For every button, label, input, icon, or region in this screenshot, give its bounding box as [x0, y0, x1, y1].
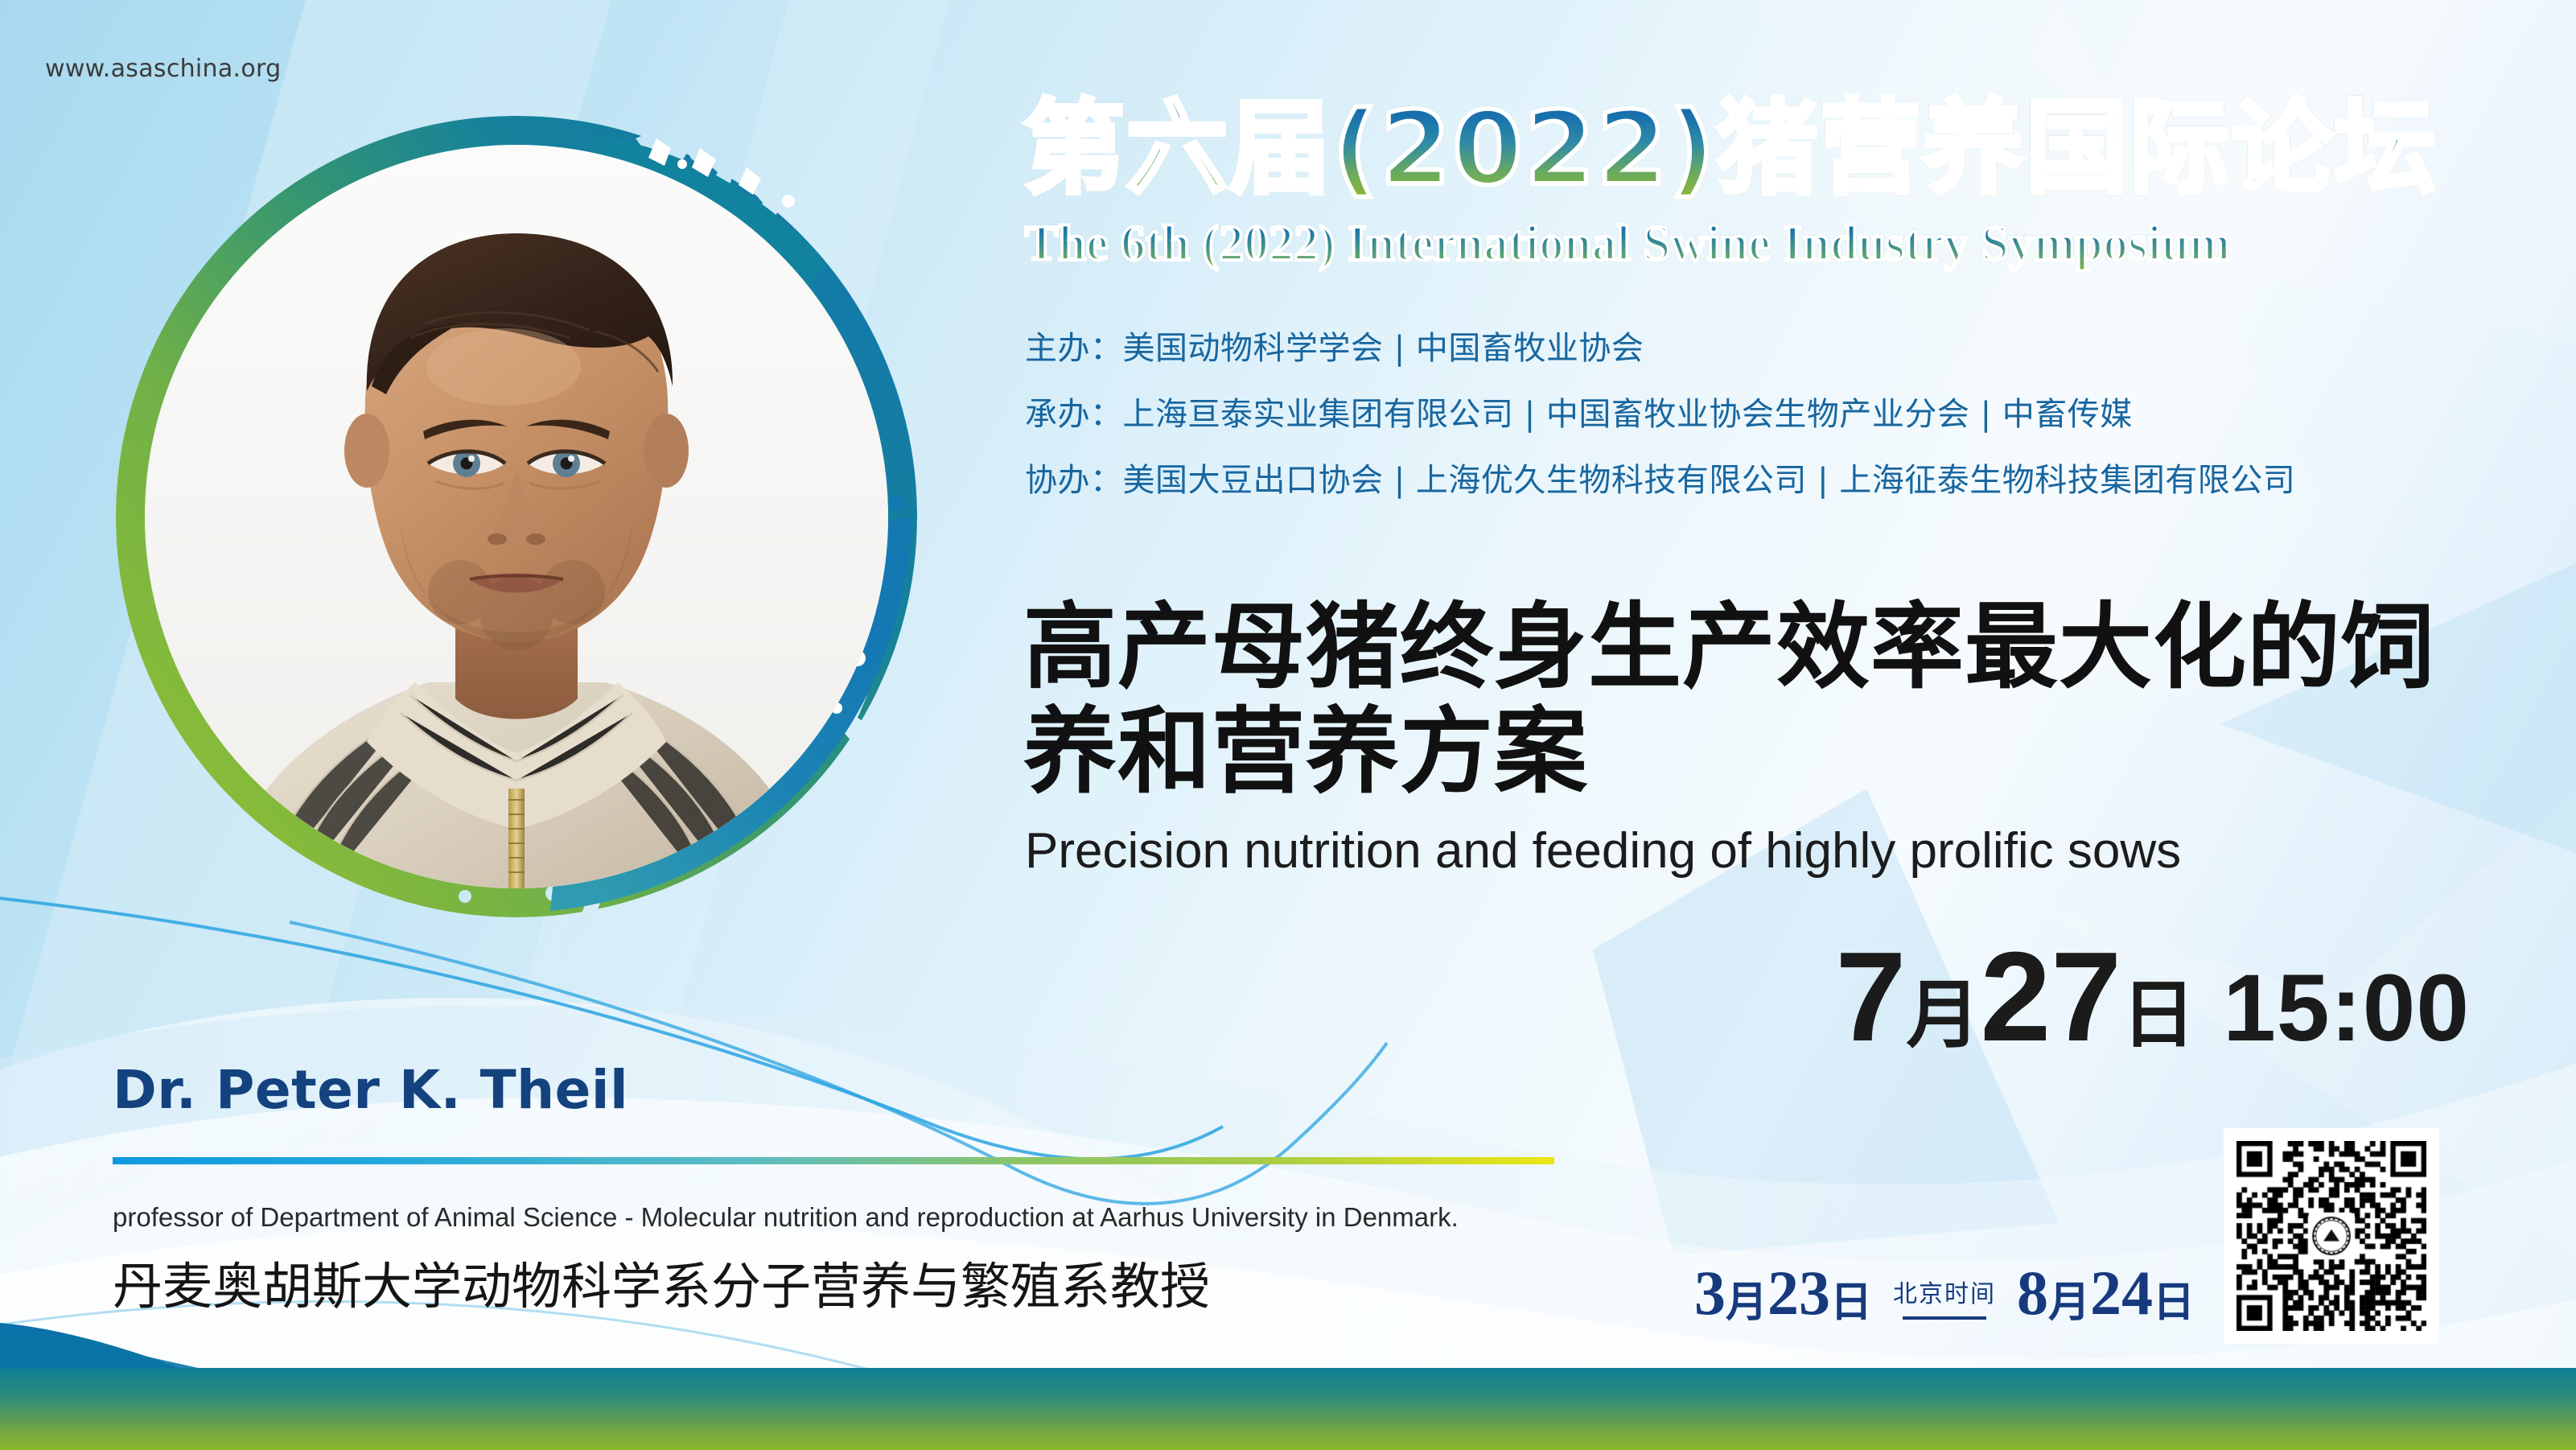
speaker-name: Dr. Peter K. Theil — [113, 1059, 628, 1121]
range-end-month-unit: 月 — [2048, 1283, 2090, 1323]
organizer-line-host: 主办：美国动物科学学会 | 中国畜牧业协会 — [1025, 322, 1644, 369]
timezone-rule — [1903, 1316, 1986, 1320]
event-title-en: The 6th (2022) International Swine Indus… — [1025, 216, 2231, 273]
timezone-note: 北京时间 — [1893, 1274, 1996, 1320]
range-end-day-unit: 日 — [2153, 1283, 2195, 1323]
session-day-number: 27 — [1980, 933, 2121, 1061]
range-start-month-unit: 月 — [1726, 1283, 1767, 1323]
session-datetime: 7 月 27 日 15:00 — [1836, 933, 2470, 1061]
session-month-unit: 月 — [1906, 978, 1980, 1052]
speaker-affiliation-cn: 丹麦奥胡斯大学动物科学系分子营养与繁殖系教授 — [113, 1246, 1210, 1318]
session-time: 15:00 — [2223, 961, 2470, 1056]
speaker-affiliation-en: professor of Department of Animal Scienc… — [113, 1202, 1459, 1233]
range-end-month: 8 — [2017, 1263, 2048, 1323]
qr-code-card[interactable] — [2224, 1128, 2439, 1344]
range-start-month: 3 — [1694, 1263, 1726, 1323]
organizer-line-undertaker: 承办：上海亘泰实业集团有限公司 | 中国畜牧业协会生物产业分会 | 中畜传媒 — [1025, 388, 2133, 435]
site-url: www.asaschina.org — [45, 55, 282, 83]
topic-title-en: Precision nutrition and feeding of highl… — [1025, 822, 2181, 879]
session-month-number: 7 — [1836, 933, 1907, 1061]
qr-code-icon[interactable] — [2237, 1141, 2426, 1331]
topic-title-cn: 高产母猪终身生产效率最大化的饲养和营养方案 — [1023, 595, 2463, 805]
timezone-label: 北京时间 — [1893, 1274, 1996, 1309]
speaker-portrait — [145, 145, 888, 888]
event-title-cn: 第六届(2022)猪营养国际论坛 — [1023, 95, 2463, 203]
session-day-unit: 日 — [2121, 978, 2195, 1052]
organizer-line-cohost: 协办：美国大豆出口协会 | 上海优久生物科技有限公司 | 上海征泰生物科技集团有… — [1025, 454, 2295, 500]
range-start-day: 23 — [1767, 1263, 1830, 1323]
range-end-day: 24 — [2090, 1263, 2153, 1323]
speaker-portrait-block — [103, 103, 930, 930]
speaker-divider — [113, 1157, 1554, 1164]
event-date-range: 3 月 23 日 北京时间 8 月 24 日 — [1694, 1263, 2195, 1323]
range-start-day-unit: 日 — [1830, 1283, 1872, 1323]
event-poster: www.asaschina.org — [0, 0, 2576, 1450]
portrait-illustration — [145, 145, 888, 888]
footer-bar — [0, 1368, 2576, 1450]
